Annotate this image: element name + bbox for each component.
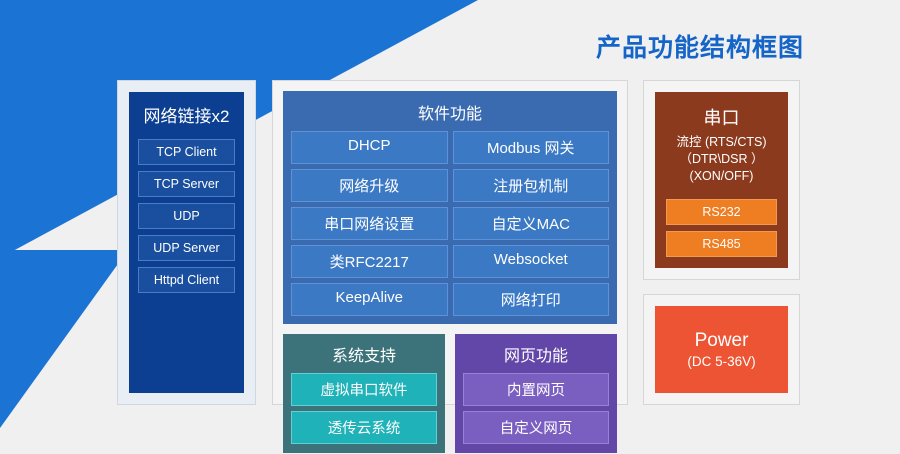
serial-spacer <box>666 185 777 193</box>
system-item-cloud-transparent[interactable]: 透传云系统 <box>291 411 437 444</box>
web-item-custom-page[interactable]: 自定义网页 <box>463 411 609 444</box>
software-panel: 软件功能 DHCP Modbus 网关 网络升级 注册包机制 串口网络设置 自定… <box>283 91 617 324</box>
software-item-websocket[interactable]: Websocket <box>453 245 610 278</box>
system-support-panel: 系统支持 虚拟串口软件 透传云系统 <box>283 334 445 453</box>
software-item-dhcp[interactable]: DHCP <box>291 131 448 164</box>
power-panel-subtitle: (DC 5-36V) <box>687 354 755 369</box>
serial-item-rs232[interactable]: RS232 <box>666 199 777 225</box>
system-support-title: 系统支持 <box>291 341 437 373</box>
web-function-title: 网页功能 <box>463 341 609 373</box>
system-item-virtual-serial-software[interactable]: 虚拟串口软件 <box>291 373 437 406</box>
serial-flow-control-line-3: (XON/OFF) <box>666 168 777 185</box>
power-panel-body: Power (DC 5-36V) <box>655 306 788 393</box>
serial-flow-control-line-2: （DTR\DSR ） <box>666 151 777 168</box>
serial-panel-title: 串口 <box>666 104 777 130</box>
serial-flow-control-line-1: 流控 (RTS/CTS) <box>666 134 777 151</box>
software-item-network-upgrade[interactable]: 网络升级 <box>291 169 448 202</box>
page-title: 产品功能结构框图 <box>596 28 804 64</box>
software-item-custom-mac[interactable]: 自定义MAC <box>453 207 610 240</box>
network-panel: 网络链接x2 TCP Client TCP Server UDP UDP Ser… <box>117 80 256 405</box>
software-item-grid: DHCP Modbus 网关 网络升级 注册包机制 串口网络设置 自定义MAC … <box>291 131 609 316</box>
web-function-panel: 网页功能 内置网页 自定义网页 <box>455 334 617 453</box>
network-panel-body: 网络链接x2 TCP Client TCP Server UDP UDP Ser… <box>129 92 244 393</box>
software-item-serial-network-config[interactable]: 串口网络设置 <box>291 207 448 240</box>
network-item-httpd-client[interactable]: Httpd Client <box>138 267 235 293</box>
power-panel: Power (DC 5-36V) <box>643 294 800 405</box>
network-panel-title: 网络链接x2 <box>138 102 235 127</box>
software-panel-title: 软件功能 <box>291 98 609 131</box>
software-item-register-packet[interactable]: 注册包机制 <box>453 169 610 202</box>
software-item-modbus-gateway[interactable]: Modbus 网关 <box>453 131 610 164</box>
serial-item-rs485[interactable]: RS485 <box>666 231 777 257</box>
software-item-network-print[interactable]: 网络打印 <box>453 283 610 316</box>
network-item-udp-server[interactable]: UDP Server <box>138 235 235 261</box>
network-item-tcp-client[interactable]: TCP Client <box>138 139 235 165</box>
network-item-tcp-server[interactable]: TCP Server <box>138 171 235 197</box>
diagram-canvas: 产品功能结构框图 网络链接x2 TCP Client TCP Server UD… <box>0 0 900 454</box>
serial-panel: 串口 流控 (RTS/CTS) （DTR\DSR ） (XON/OFF) RS2… <box>643 80 800 280</box>
power-panel-title: Power <box>695 330 749 352</box>
network-item-udp[interactable]: UDP <box>138 203 235 229</box>
software-item-rfc2217[interactable]: 类RFC2217 <box>291 245 448 278</box>
web-item-builtin-page[interactable]: 内置网页 <box>463 373 609 406</box>
serial-panel-body: 串口 流控 (RTS/CTS) （DTR\DSR ） (XON/OFF) RS2… <box>655 92 788 268</box>
software-panel-group: 软件功能 DHCP Modbus 网关 网络升级 注册包机制 串口网络设置 自定… <box>272 80 628 405</box>
lower-panel-row: 系统支持 虚拟串口软件 透传云系统 网页功能 内置网页 自定义网页 <box>283 334 617 453</box>
software-item-keepalive[interactable]: KeepAlive <box>291 283 448 316</box>
